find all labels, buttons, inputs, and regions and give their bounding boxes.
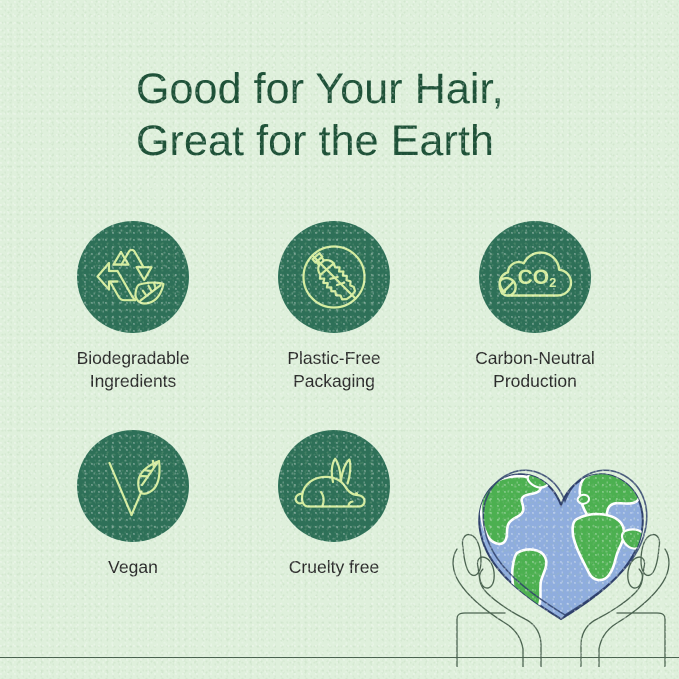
badge-cruelty-free: Cruelty free [249,430,419,579]
badge-vegan: Vegan [48,430,218,579]
badge-icon-circle [278,221,390,333]
heart-earth-in-hands-illustration [443,443,679,667]
badge-icon-circle [77,430,189,542]
recycle-leaf-icon [77,221,189,333]
badge-label: Plastic-Free Packaging [249,347,419,393]
badge-label: Carbon-Neutral Production [450,347,620,393]
page-title: Good for Your Hair, Great for the Earth [136,63,656,167]
no-plastic-bottle-icon [278,221,390,333]
heart-globe [479,470,646,619]
co2-label: CO2 [518,266,557,290]
rabbit-icon [278,430,390,542]
promo-graphic: Good for Your Hair, Great for the Earth [0,0,679,679]
badge-carbon-neutral-production: CO2 Carbon-Neutral Production [450,221,620,393]
badge-label: Cruelty free [249,556,419,579]
britain [578,495,589,504]
co2-cloud-leaf-icon: CO2 [479,221,591,333]
badge-label: Biodegradable Ingredients [48,347,218,393]
badge-icon-circle [278,430,390,542]
badge-label: Vegan [48,556,218,579]
badge-icon-circle: CO2 [479,221,591,333]
heart-earth-graphic [443,443,679,667]
vegan-leaf-v-icon [77,430,189,542]
badge-biodegradable-ingredients: Biodegradable Ingredients [48,221,218,393]
badge-icon-circle [77,221,189,333]
badge-plastic-free-packaging: Plastic-Free Packaging [249,221,419,393]
